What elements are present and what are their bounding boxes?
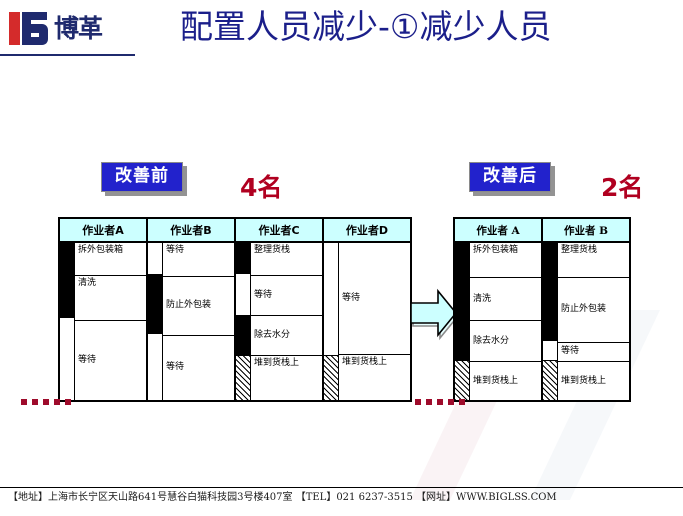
logo-wordmark: 博革 bbox=[54, 16, 102, 41]
before-task-cell: 堆到货栈上 bbox=[251, 356, 322, 400]
after-task-cell: 整理货栈 bbox=[558, 243, 629, 278]
before-load-bar-4 bbox=[324, 243, 339, 400]
before-task-cell: 等待 bbox=[75, 321, 146, 400]
header-divider bbox=[0, 54, 135, 56]
after-count: 2名 bbox=[601, 168, 643, 204]
before-task-list-2: 等待防止外包装等待 bbox=[163, 243, 234, 400]
after-task-list-2: 整理货栈防止外包装等待堆到货栈上 bbox=[558, 243, 629, 400]
before-task-cell: 清洗 bbox=[75, 276, 146, 321]
before-bar-segment-black bbox=[236, 315, 250, 356]
after-bar-segment-hatch bbox=[455, 360, 469, 400]
before-task-cell: 整理货栈 bbox=[251, 243, 322, 276]
after-chart-header-row: 作业者 A作业者 B bbox=[455, 219, 629, 243]
after-column-header-2: 作业者 B bbox=[543, 219, 629, 241]
before-operator-chart: 作业者A作业者B作业者C作业者D 拆外包装箱清洗等待等待防止外包装等待整理货栈等… bbox=[58, 217, 412, 402]
after-column-header-1: 作业者 A bbox=[455, 219, 543, 241]
before-count: 4名 bbox=[240, 168, 282, 204]
before-bar-segment-white bbox=[236, 274, 250, 315]
after-baseline-dots bbox=[415, 399, 465, 405]
before-task-cell: 防止外包装 bbox=[163, 277, 234, 336]
before-chart-body: 拆外包装箱清洗等待等待防止外包装等待整理货栈等待除去水分堆到货栈上等待堆到货栈上 bbox=[60, 243, 410, 400]
before-column-header-3: 作业者C bbox=[236, 219, 324, 241]
after-label-text: 改善后 bbox=[469, 162, 551, 192]
after-task-list-1: 拆外包装箱清洗除去水分堆到货栈上 bbox=[470, 243, 541, 400]
before-task-cell: 等待 bbox=[251, 276, 322, 316]
after-bar-segment-hatch bbox=[543, 360, 557, 400]
after-bar-segment-black bbox=[455, 276, 469, 320]
before-label-plate: 改善前 bbox=[101, 162, 183, 192]
before-bar-segment-black bbox=[148, 274, 162, 334]
after-operator-chart: 作业者 A作业者 B 拆外包装箱清洗除去水分堆到货栈上整理货栈防止外包装等待堆到… bbox=[453, 217, 631, 402]
after-bar-segment-black bbox=[455, 319, 469, 360]
bg-monogram-icon bbox=[9, 12, 49, 45]
before-operator-column-1: 拆外包装箱清洗等待 bbox=[60, 243, 148, 400]
before-task-cell: 除去水分 bbox=[251, 316, 322, 356]
after-bar-segment-black bbox=[543, 243, 557, 276]
before-task-list-3: 整理货栈等待除去水分堆到货栈上 bbox=[251, 243, 322, 400]
before-bar-segment-white bbox=[148, 243, 162, 274]
footer-divider bbox=[0, 487, 683, 488]
page-title: 配置人员减少-①减少人员 bbox=[180, 4, 683, 50]
before-load-bar-1 bbox=[60, 243, 75, 400]
after-chart-body: 拆外包装箱清洗除去水分堆到货栈上整理货栈防止外包装等待堆到货栈上 bbox=[455, 243, 629, 400]
before-bar-segment-white bbox=[148, 334, 162, 400]
after-operator-column-2: 整理货栈防止外包装等待堆到货栈上 bbox=[543, 243, 629, 400]
before-column-header-1: 作业者A bbox=[60, 219, 148, 241]
after-load-bar-1 bbox=[455, 243, 470, 400]
right-block-arrow-icon bbox=[406, 285, 460, 341]
after-task-cell: 堆到货栈上 bbox=[470, 362, 541, 400]
after-task-cell: 清洗 bbox=[470, 278, 541, 322]
before-chart-header-row: 作业者A作业者B作业者C作业者D bbox=[60, 219, 410, 243]
before-load-bar-3 bbox=[236, 243, 251, 400]
after-label-plate: 改善后 bbox=[469, 162, 551, 192]
before-bar-segment-black bbox=[60, 274, 74, 318]
after-bar-segment-black bbox=[543, 276, 557, 342]
before-task-cell: 堆到货栈上 bbox=[339, 355, 410, 400]
before-task-cell: 拆外包装箱 bbox=[75, 243, 146, 276]
before-task-cell: 等待 bbox=[163, 336, 234, 400]
after-task-cell: 除去水分 bbox=[470, 321, 541, 362]
before-task-list-1: 拆外包装箱清洗等待 bbox=[75, 243, 146, 400]
before-task-cell: 等待 bbox=[339, 243, 410, 355]
before-column-header-4: 作业者D bbox=[324, 219, 410, 241]
before-baseline-dots bbox=[21, 399, 71, 405]
before-bar-segment-hatch bbox=[236, 355, 250, 400]
before-column-header-2: 作业者B bbox=[148, 219, 236, 241]
before-load-bar-2 bbox=[148, 243, 163, 400]
before-operator-column-2: 等待防止外包装等待 bbox=[148, 243, 236, 400]
after-task-cell: 防止外包装 bbox=[558, 278, 629, 343]
before-bar-segment-white bbox=[324, 243, 338, 355]
after-load-bar-2 bbox=[543, 243, 558, 400]
before-operator-column-3: 整理货栈等待除去水分堆到货栈上 bbox=[236, 243, 324, 400]
after-bar-segment-black bbox=[455, 243, 469, 276]
before-bar-segment-black bbox=[236, 243, 250, 274]
after-task-cell: 拆外包装箱 bbox=[470, 243, 541, 278]
before-task-list-4: 等待堆到货栈上 bbox=[339, 243, 410, 400]
after-task-cell: 堆到货栈上 bbox=[558, 362, 629, 400]
before-task-cell: 等待 bbox=[163, 243, 234, 277]
after-task-cell: 等待 bbox=[558, 343, 629, 362]
before-operator-column-4: 等待堆到货栈上 bbox=[324, 243, 410, 400]
before-label-text: 改善前 bbox=[101, 162, 183, 192]
company-logo: 博革 bbox=[9, 10, 127, 46]
after-bar-segment-white bbox=[543, 341, 557, 360]
page-header: 博革 配置人员减少-①减少人员 bbox=[0, 0, 683, 56]
after-operator-column-1: 拆外包装箱清洗除去水分堆到货栈上 bbox=[455, 243, 543, 400]
before-bar-segment-black bbox=[60, 243, 74, 274]
before-bar-segment-white bbox=[60, 318, 74, 400]
footer-contact-text: 【地址】上海市长宁区天山路641号慧谷白猫科技园3号楼407室 【TEL】021… bbox=[8, 491, 678, 505]
before-bar-segment-hatch bbox=[324, 355, 338, 400]
